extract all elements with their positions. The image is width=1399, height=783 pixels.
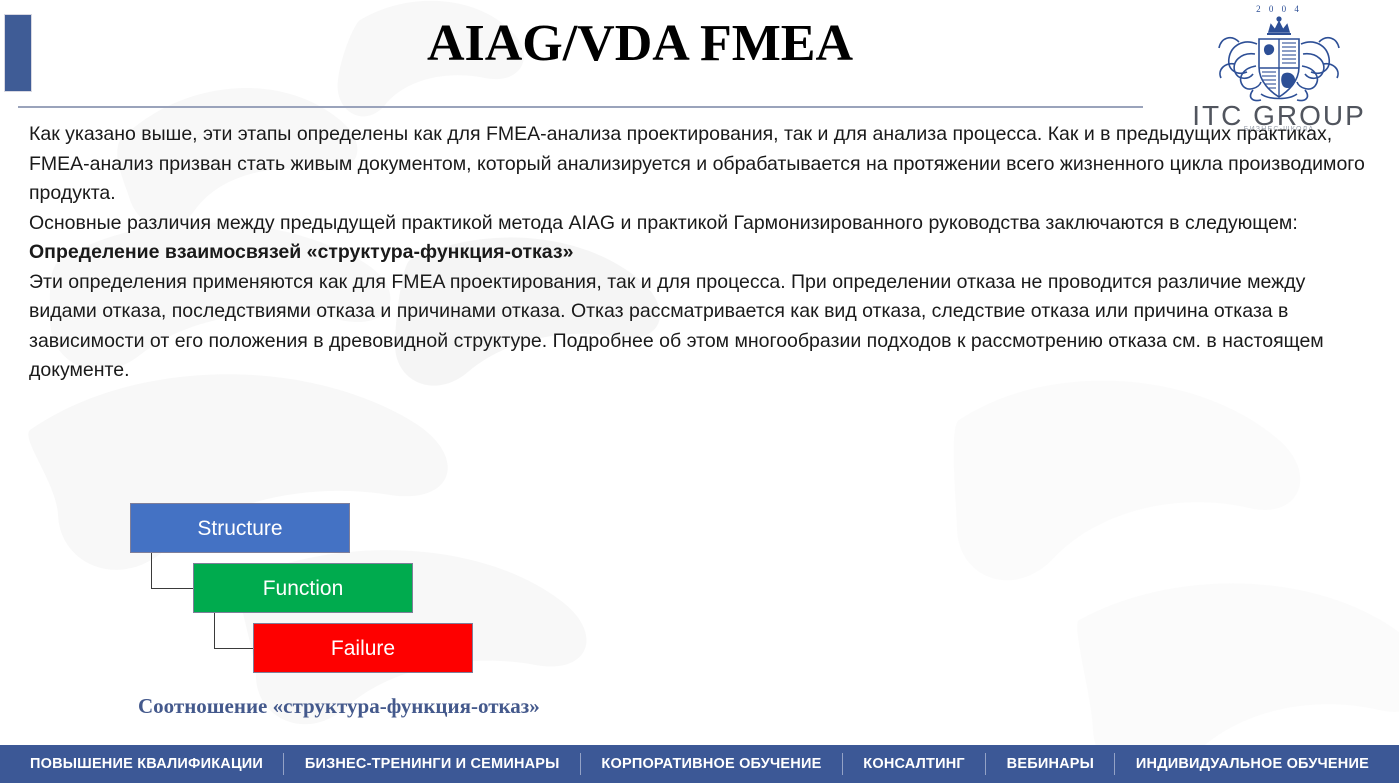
body-paragraph-heading: Определение взаимосвязей «структура-функ…	[29, 238, 1374, 268]
slide-body-text: Как указано выше, эти этапы определены к…	[29, 120, 1374, 386]
header-divider	[18, 106, 1143, 108]
slide-canvas: AIAG/VDA FMEA 2 0 0 4	[0, 0, 1399, 783]
footer-item-individualnoe-obuchenie[interactable]: ИНДИВИДУАЛЬНОЕ ОБУЧЕНИЕ	[1122, 756, 1383, 772]
body-paragraph-2: Основные различия между предыдущей практ…	[29, 209, 1374, 239]
connector-function-failure	[214, 613, 254, 649]
footer-separator	[842, 753, 843, 775]
footer-item-korporativnoe-obuchenie[interactable]: КОРПОРАТИВНОЕ ОБУЧЕНИЕ	[587, 756, 835, 772]
header-accent-bar	[4, 14, 32, 92]
footer-separator	[1114, 753, 1115, 775]
connector-structure-function	[151, 553, 194, 589]
page-title: AIAG/VDA FMEA	[120, 10, 1160, 78]
footer-separator	[580, 753, 581, 775]
body-paragraph-1: Как указано выше, эти этапы определены к…	[29, 120, 1374, 209]
footer-item-povyshenie-kvalifikacii[interactable]: ПОВЫШЕНИЕ КВАЛИФИКАЦИИ	[16, 756, 277, 772]
footer-separator	[283, 753, 284, 775]
footer-item-vebinary[interactable]: ВЕБИНАРЫ	[993, 756, 1108, 772]
diagram-caption: Соотношение «структура-функция-отказ»	[138, 694, 540, 719]
footer-separator	[985, 753, 986, 775]
body-paragraph-3: Эти определения применяются как для FMEA…	[29, 268, 1374, 386]
footer-nav: ПОВЫШЕНИЕ КВАЛИФИКАЦИИ БИЗНЕС-ТРЕНИНГИ И…	[0, 745, 1399, 783]
diagram-node-function[interactable]: Function	[193, 563, 413, 613]
diagram-node-structure[interactable]: Structure	[130, 503, 350, 553]
diagram-node-failure[interactable]: Failure	[253, 623, 473, 673]
footer-item-biznes-treningi[interactable]: БИЗНЕС-ТРЕНИНГИ И СЕМИНАРЫ	[291, 756, 574, 772]
heraldic-crest-icon	[1209, 12, 1349, 104]
footer-item-konsalting[interactable]: КОНСАЛТИНГ	[849, 756, 979, 772]
structure-function-failure-diagram: Structure Function Failure	[130, 500, 550, 680]
